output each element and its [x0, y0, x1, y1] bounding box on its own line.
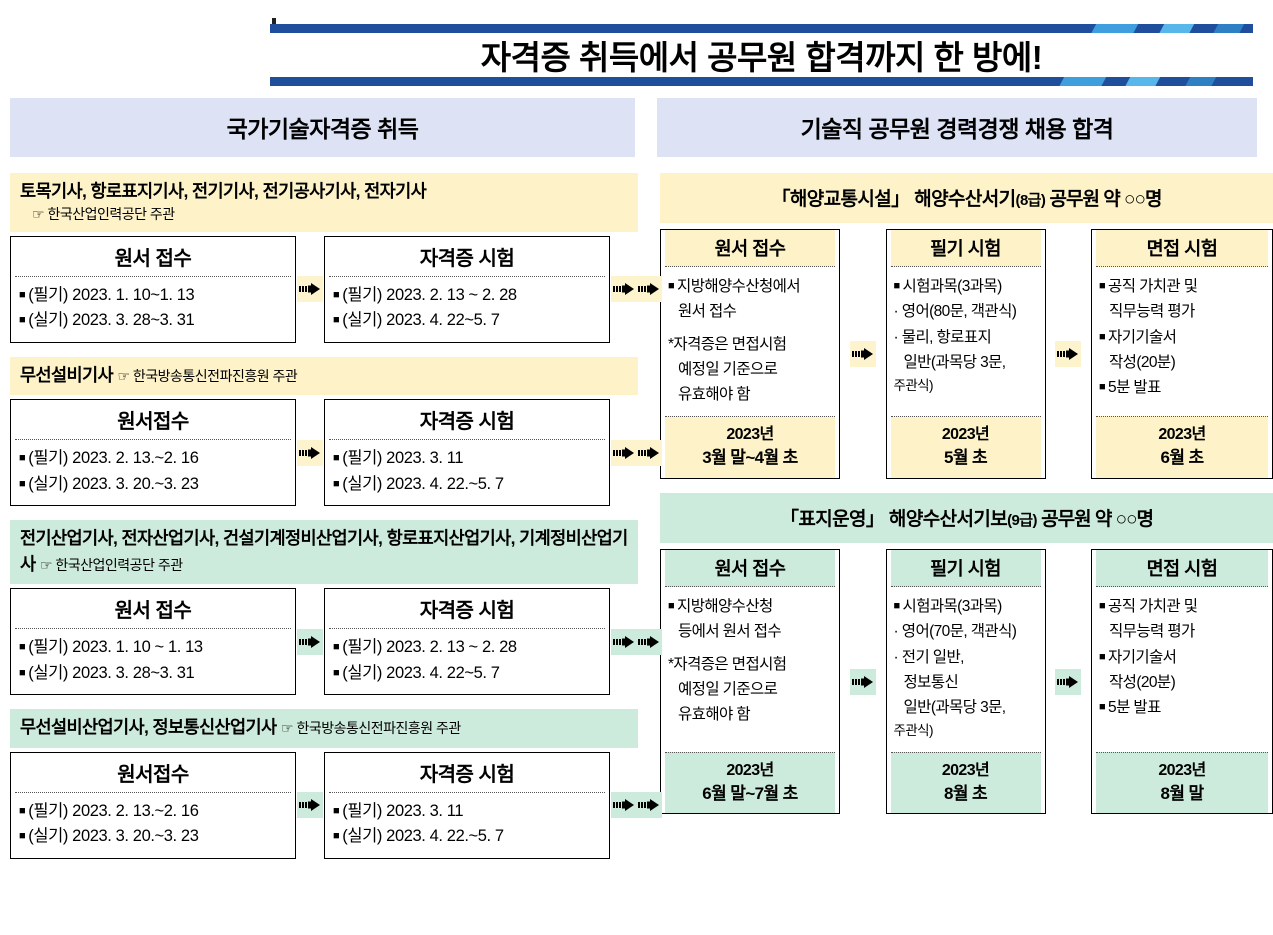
step-box: 원서접수■(필기) 2023. 2. 13.~2. 16■(실기) 2023. …	[10, 752, 296, 859]
schedule-line: ■(필기) 2023. 2. 13.~2. 16	[19, 799, 287, 825]
square-bullet-icon: ■	[19, 314, 25, 326]
hiring-detail-line: ■공직 가치관 및	[1099, 595, 1265, 618]
arrow-right-icon	[1055, 341, 1081, 367]
arrow-right-icon	[297, 276, 323, 302]
schedule-year: 2023년	[891, 759, 1041, 782]
hiring-detail-text: 원서 접수	[678, 303, 736, 320]
schedule-line: ■(실기) 2023. 4. 22.~5. 7	[333, 472, 601, 498]
square-bullet-icon: ■	[333, 289, 339, 301]
square-bullet-icon: ■	[19, 452, 25, 464]
hiring-step-box: 필기 시험■시험과목(3과목)· 영어(80문, 객관식)· 물리, 항로표지일…	[886, 229, 1046, 479]
schedule-text: (실기) 2023. 4. 22~5. 7	[342, 311, 499, 329]
organizer-label: 한국방송통신전파진흥원 주관	[133, 368, 297, 384]
hiring-step-title: 원서 접수	[665, 230, 835, 267]
schedule-line: ■(실기) 2023. 4. 22~5. 7	[333, 308, 601, 334]
step-box-body: ■(필기) 2023. 3. 11■(실기) 2023. 4. 22.~5. 7	[325, 793, 609, 858]
hiring-step-body: ■지방해양수산청등에서 원서 접수*자격증은 면접시험예정일 기준으로유효해야 …	[661, 587, 839, 752]
hiring-panel-band: 「표지운영」 해양수산서기보(9급) 공무원 약 ○○명	[660, 493, 1273, 543]
step-box-title: 원서접수	[15, 400, 291, 440]
square-bullet-icon: ■	[333, 667, 339, 679]
square-bullet-icon: ■	[333, 805, 339, 817]
certificate-column: 토목기사, 항로표지기사, 전기기사, 전기공사기사, 전자기사☞ 한국산업인력…	[10, 173, 638, 873]
hiring-detail-line: · 영어(80문, 객관식)	[894, 300, 1038, 323]
hiring-panel: 「표지운영」 해양수산서기보(9급) 공무원 약 ○○명원서 접수■지방해양수산…	[660, 493, 1273, 814]
certificate-band: 토목기사, 항로표지기사, 전기기사, 전기공사기사, 전자기사☞ 한국산업인력…	[10, 173, 638, 232]
certificate-step-flow: 원서 접수■(필기) 2023. 1. 10 ~ 1. 13■(실기) 2023…	[10, 588, 638, 695]
square-bullet-icon: ■	[894, 600, 900, 612]
pointing-hand-icon: ☞	[117, 368, 132, 384]
hiring-detail-text: 주관식)	[894, 378, 933, 393]
certificate-group: 토목기사, 항로표지기사, 전기기사, 전기공사기사, 전자기사☞ 한국산업인력…	[10, 173, 638, 343]
hiring-detail-line: ■5분 발표	[1099, 696, 1265, 719]
step-box: 자격증 시험■(필기) 2023. 3. 11■(실기) 2023. 4. 22…	[324, 752, 610, 859]
hiring-step-title: 면접 시험	[1096, 230, 1268, 267]
step-box-title: 자격증 시험	[329, 400, 605, 440]
hiring-panel-band: 「해양교통시설」 해양수산서기(8급) 공무원 약 ○○명	[660, 173, 1273, 223]
square-bullet-icon: ■	[1099, 651, 1105, 663]
arrow-right-icon	[611, 440, 637, 466]
hiring-detail-line: *자격증은 면접시험	[668, 333, 832, 356]
schedule-text: (실기) 2023. 3. 28~3. 31	[28, 664, 194, 682]
title-rule-bottom	[270, 77, 1253, 86]
bridge-arrow	[636, 276, 662, 302]
organizer-label: 한국산업인력공단 주관	[55, 557, 182, 573]
certificate-group: 전기산업기사, 전자산업기사, 건설기계정비산업기사, 항로표지산업기사, 기계…	[10, 520, 638, 695]
step-box-title: 자격증 시험	[329, 753, 605, 793]
certificate-names: 무선설비산업기사, 정보통신산업기사	[20, 717, 277, 737]
arrow-right-icon	[636, 276, 662, 302]
square-bullet-icon: ■	[333, 452, 339, 464]
pointing-hand-icon: ☞	[40, 557, 55, 573]
hiring-detail-text: 5분 발표	[1108, 379, 1161, 396]
title-banner: 자격증 취득에서 공무원 합격까지 한 방에!	[20, 18, 1253, 90]
schedule-period: 5월 초	[891, 446, 1041, 471]
schedule-line: ■(필기) 2023. 3. 11	[333, 799, 601, 825]
schedule-text: (실기) 2023. 3. 20.~3. 23	[28, 827, 198, 845]
schedule-period: 8월 초	[891, 782, 1041, 807]
hiring-detail-line: *자격증은 면접시험	[668, 653, 832, 676]
arrow-right-icon	[850, 341, 876, 367]
hiring-detail-line: 유효해야 함	[668, 383, 832, 406]
square-bullet-icon: ■	[1099, 701, 1105, 713]
schedule-period: 6월 말~7월 초	[665, 782, 835, 807]
right-column-header: 기술직 공무원 경력경쟁 채용 합격	[657, 98, 1257, 157]
bridge-arrow	[636, 629, 662, 655]
step-box-body: ■(필기) 2023. 2. 13.~2. 16■(실기) 2023. 3. 2…	[11, 793, 295, 858]
certificate-organizer: ☞ 한국방송통신전파진흥원 주관	[117, 368, 297, 384]
hiring-step-body: ■공직 가치관 및직무능력 평가■자기기술서작성(20분)■5분 발표	[1092, 267, 1272, 416]
hiring-detail-line: 직무능력 평가	[1099, 620, 1265, 643]
arrow-right-icon	[297, 629, 323, 655]
hiring-detail-line: ■공직 가치관 및	[1099, 275, 1265, 298]
position-title: 「해양교통시설」 해양수산서기	[772, 189, 1016, 210]
step-box: 원서접수■(필기) 2023. 2. 13.~2. 16■(실기) 2023. …	[10, 399, 296, 506]
schedule-text: (필기) 2023. 2. 13 ~ 2. 28	[342, 286, 516, 304]
dot-bullet-icon: ·	[894, 623, 902, 640]
hiring-step-body: ■시험과목(3과목)· 영어(70문, 객관식)· 전기 일반,정보통신일반(과…	[887, 587, 1045, 752]
hiring-detail-line: ■지방해양수산청에서	[668, 275, 832, 298]
hiring-detail-text: 지방해양수산청	[677, 598, 773, 615]
hiring-detail-text: 예정일 기준으로	[678, 681, 777, 698]
schedule-year: 2023년	[1096, 423, 1268, 446]
certificate-names: 토목기사, 항로표지기사, 전기기사, 전기공사기사, 전자기사	[20, 181, 426, 201]
arrow-right-icon	[297, 792, 323, 818]
flow-board: 국가기술자격증 취득 기술직 공무원 경력경쟁 채용 합격 토목기사, 항로표지…	[0, 98, 1273, 873]
left-column-header: 국가기술자격증 취득	[10, 98, 635, 157]
hiring-detail-text: 영어(80문, 객관식)	[902, 303, 1017, 320]
schedule-text: (실기) 2023. 4. 22.~5. 7	[342, 475, 503, 493]
arrow-cell	[296, 752, 324, 859]
hiring-detail-text: 자기기술서	[1108, 649, 1176, 666]
step-box-body: ■(필기) 2023. 3. 11■(실기) 2023. 4. 22.~5. 7	[325, 440, 609, 505]
organizer-label: 한국산업인력공단 주관	[47, 206, 174, 222]
hiring-detail-text: 일반(과목당 3문,	[904, 699, 1006, 716]
certificate-band: 전기산업기사, 전자산업기사, 건설기계정비산업기사, 항로표지산업기사, 기계…	[10, 520, 638, 584]
step-box: 자격증 시험■(필기) 2023. 3. 11■(실기) 2023. 4. 22…	[324, 399, 610, 506]
hiring-step-box: 원서 접수■지방해양수산청에서원서 접수*자격증은 면접시험예정일 기준으로유효…	[660, 229, 840, 479]
schedule-text: (실기) 2023. 3. 20.~3. 23	[28, 475, 198, 493]
hiring-detail-text: 전기 일반,	[902, 649, 964, 666]
arrow-right-icon	[636, 792, 662, 818]
square-bullet-icon: ■	[19, 478, 25, 490]
position-count: 공무원 약 ○○명	[1037, 509, 1153, 530]
square-bullet-icon: ■	[894, 280, 900, 292]
schedule-text: (필기) 2023. 2. 13 ~ 2. 28	[342, 638, 516, 656]
hiring-step-title: 필기 시험	[891, 230, 1041, 267]
hiring-detail-line: · 물리, 항로표지	[894, 326, 1038, 349]
hiring-detail-line: 유효해야 함	[668, 703, 832, 726]
square-bullet-icon: ■	[1099, 381, 1105, 393]
certificate-group: 무선설비산업기사, 정보통신산업기사 ☞ 한국방송통신전파진흥원 주관원서접수■…	[10, 709, 638, 859]
dot-bullet-icon: ·	[894, 303, 902, 320]
schedule-text: (필기) 2023. 2. 13.~2. 16	[28, 449, 198, 467]
hiring-detail-text: 공직 가치관 및	[1108, 598, 1197, 615]
arrow-right-icon	[1055, 669, 1081, 695]
certificate-step-flow: 원서접수■(필기) 2023. 2. 13.~2. 16■(실기) 2023. …	[10, 399, 638, 506]
step-box: 원서 접수■(필기) 2023. 1. 10~1. 13■(실기) 2023. …	[10, 236, 296, 343]
certificate-step-flow: 원서 접수■(필기) 2023. 1. 10~1. 13■(실기) 2023. …	[10, 236, 638, 343]
hiring-detail-line: 일반(과목당 3문,	[894, 351, 1038, 374]
dot-bullet-icon: ·	[894, 649, 902, 666]
hiring-step-body: ■시험과목(3과목)· 영어(80문, 객관식)· 물리, 항로표지일반(과목당…	[887, 267, 1045, 416]
schedule-line: ■(필기) 2023. 2. 13 ~ 2. 28	[333, 283, 601, 309]
hiring-detail-line: 원서 접수	[668, 300, 832, 323]
hiring-detail-text: 물리, 항로표지	[902, 329, 991, 346]
arrow-cell	[610, 399, 638, 506]
schedule-text: (실기) 2023. 3. 28~3. 31	[28, 311, 194, 329]
schedule-line: ■(실기) 2023. 4. 22~5. 7	[333, 661, 601, 687]
arrow-cell	[1046, 229, 1092, 479]
square-bullet-icon: ■	[19, 641, 25, 653]
columns-wrapper: 토목기사, 항로표지기사, 전기기사, 전기공사기사, 전자기사☞ 한국산업인력…	[8, 173, 1265, 873]
arrow-right-icon	[636, 440, 662, 466]
hiring-step-schedule: 2023년3월 말~4월 초	[665, 416, 835, 478]
step-box: 원서 접수■(필기) 2023. 1. 10 ~ 1. 13■(실기) 2023…	[10, 588, 296, 695]
civil-service-column: 「해양교통시설」 해양수산서기(8급) 공무원 약 ○○명원서 접수■지방해양수…	[660, 173, 1273, 873]
hiring-detail-text: 시험과목(3과목)	[903, 598, 1002, 615]
step-box-body: ■(필기) 2023. 2. 13.~2. 16■(실기) 2023. 3. 2…	[11, 440, 295, 505]
schedule-year: 2023년	[665, 759, 835, 782]
hiring-step-box: 면접 시험■공직 가치관 및직무능력 평가■자기기술서작성(20분)■5분 발표…	[1091, 549, 1273, 814]
hiring-detail-line: 주관식)	[894, 721, 1038, 741]
arrow-cell	[610, 236, 638, 343]
hiring-detail-text: 영어(70문, 객관식)	[902, 623, 1017, 640]
schedule-text: (필기) 2023. 3. 11	[342, 802, 463, 820]
position-title: 「표지운영」 해양수산서기보	[780, 509, 1007, 530]
certificate-names: 무선설비기사	[20, 365, 113, 385]
hiring-detail-line: ■시험과목(3과목)	[894, 275, 1038, 298]
dot-bullet-icon: ·	[894, 329, 902, 346]
hiring-step-title: 면접 시험	[1096, 550, 1268, 587]
arrow-right-icon	[611, 629, 637, 655]
square-bullet-icon: ■	[333, 314, 339, 326]
square-bullet-icon: ■	[333, 830, 339, 842]
step-box-title: 원서접수	[15, 753, 291, 793]
arrow-right-icon	[611, 792, 637, 818]
hiring-detail-text: 유효해야 함	[678, 706, 750, 723]
organizer-label: 한국방송통신전파진흥원 주관	[296, 720, 460, 736]
hiring-detail-line: 작성(20분)	[1099, 671, 1265, 694]
hiring-detail-text: 시험과목(3과목)	[903, 278, 1002, 295]
hiring-detail-line: 작성(20분)	[1099, 351, 1265, 374]
square-bullet-icon: ■	[1099, 600, 1105, 612]
hiring-detail-text: 공직 가치관 및	[1108, 278, 1197, 295]
hiring-detail-text: 작성(20분)	[1109, 674, 1175, 691]
schedule-line: ■(필기) 2023. 1. 10 ~ 1. 13	[19, 635, 287, 661]
schedule-period: 8월 말	[1096, 782, 1268, 807]
hiring-detail-text: 자기기술서	[1108, 329, 1176, 346]
hiring-step-schedule: 2023년6월 말~7월 초	[665, 752, 835, 814]
hiring-step-flow: 원서 접수■지방해양수산청등에서 원서 접수*자격증은 면접시험예정일 기준으로…	[660, 549, 1273, 814]
hiring-detail-line: ■자기기술서	[1099, 646, 1265, 669]
arrow-cell	[610, 752, 638, 859]
hiring-step-schedule: 2023년5월 초	[891, 416, 1041, 478]
square-bullet-icon: ■	[1099, 331, 1105, 343]
hiring-detail-line: ■자기기술서	[1099, 326, 1265, 349]
position-count: 공무원 약 ○○명	[1045, 189, 1161, 210]
hiring-step-title: 원서 접수	[665, 550, 835, 587]
hiring-detail-text: *자격증은 면접시험	[668, 336, 786, 353]
square-bullet-icon: ■	[1099, 280, 1105, 292]
hiring-detail-line: ■지방해양수산청	[668, 595, 832, 618]
schedule-line: ■(실기) 2023. 4. 22.~5. 7	[333, 824, 601, 850]
schedule-line: ■(실기) 2023. 3. 28~3. 31	[19, 661, 287, 687]
hiring-detail-text: 직무능력 평가	[1109, 303, 1195, 320]
arrow-cell	[610, 588, 638, 695]
hiring-detail-line: 직무능력 평가	[1099, 300, 1265, 323]
step-box-body: ■(필기) 2023. 1. 10~1. 13■(실기) 2023. 3. 28…	[11, 277, 295, 342]
square-bullet-icon: ■	[333, 641, 339, 653]
hiring-step-schedule: 2023년6월 초	[1096, 416, 1268, 478]
certificate-band: 무선설비산업기사, 정보통신산업기사 ☞ 한국방송통신전파진흥원 주관	[10, 709, 638, 747]
schedule-text: (필기) 2023. 3. 11	[342, 449, 463, 467]
square-bullet-icon: ■	[668, 280, 674, 292]
hiring-detail-text: 일반(과목당 3문,	[904, 354, 1006, 371]
hiring-detail-text: 정보통신	[904, 674, 959, 691]
square-bullet-icon: ■	[19, 667, 25, 679]
hiring-detail-text: 주관식)	[894, 723, 933, 738]
schedule-line: ■(필기) 2023. 2. 13.~2. 16	[19, 446, 287, 472]
hiring-step-schedule: 2023년8월 초	[891, 752, 1041, 814]
hiring-step-title: 필기 시험	[891, 550, 1041, 587]
arrow-right-icon	[636, 629, 662, 655]
hiring-detail-text: 직무능력 평가	[1109, 623, 1195, 640]
arrow-right-icon	[611, 276, 637, 302]
pointing-hand-icon: ☞	[32, 206, 47, 222]
hiring-detail-line: 등에서 원서 접수	[668, 620, 832, 643]
certificate-step-flow: 원서접수■(필기) 2023. 2. 13.~2. 16■(실기) 2023. …	[10, 752, 638, 859]
arrow-right-icon	[850, 669, 876, 695]
arrow-cell	[296, 588, 324, 695]
schedule-year: 2023년	[665, 423, 835, 446]
hiring-step-schedule: 2023년8월 말	[1096, 752, 1268, 814]
hiring-detail-text: 5분 발표	[1108, 699, 1161, 716]
hiring-detail-text: 예정일 기준으로	[678, 361, 777, 378]
hiring-detail-text: 지방해양수산청에서	[677, 278, 800, 295]
hiring-detail-text: 유효해야 함	[678, 386, 750, 403]
schedule-period: 3월 말~4월 초	[665, 446, 835, 471]
step-box-body: ■(필기) 2023. 2. 13 ~ 2. 28■(실기) 2023. 4. …	[325, 277, 609, 342]
bridge-arrow	[636, 440, 662, 466]
certificate-organizer: ☞ 한국산업인력공단 주관	[40, 557, 183, 573]
arrow-cell	[840, 549, 886, 814]
schedule-text: (필기) 2023. 1. 10 ~ 1. 13	[28, 638, 202, 656]
square-bullet-icon: ■	[19, 289, 25, 301]
schedule-line: ■(필기) 2023. 2. 13 ~ 2. 28	[333, 635, 601, 661]
square-bullet-icon: ■	[668, 600, 674, 612]
step-box-title: 자격증 시험	[329, 237, 605, 277]
schedule-line: ■(실기) 2023. 3. 28~3. 31	[19, 308, 287, 334]
schedule-text: (필기) 2023. 1. 10~1. 13	[28, 286, 194, 304]
schedule-text: (필기) 2023. 2. 13.~2. 16	[28, 802, 198, 820]
schedule-year: 2023년	[1096, 759, 1268, 782]
hiring-step-body: ■지방해양수산청에서원서 접수*자격증은 면접시험예정일 기준으로유효해야 함	[661, 267, 839, 416]
hiring-detail-text: 등에서 원서 접수	[678, 623, 781, 640]
certificate-organizer: ☞ 한국방송통신전파진흥원 주관	[281, 720, 461, 736]
step-box-body: ■(필기) 2023. 1. 10 ~ 1. 13■(실기) 2023. 3. …	[11, 629, 295, 694]
hiring-detail-line: · 전기 일반,	[894, 646, 1038, 669]
hiring-detail-line: ■5분 발표	[1099, 376, 1265, 399]
position-grade: (9급)	[1007, 512, 1037, 529]
step-box-body: ■(필기) 2023. 2. 13 ~ 2. 28■(실기) 2023. 4. …	[325, 629, 609, 694]
square-bullet-icon: ■	[19, 805, 25, 817]
step-box-title: 자격증 시험	[329, 589, 605, 629]
step-box-title: 원서 접수	[15, 237, 291, 277]
square-bullet-icon: ■	[19, 830, 25, 842]
schedule-year: 2023년	[891, 423, 1041, 446]
arrow-cell	[296, 236, 324, 343]
hiring-detail-line: 정보통신	[894, 671, 1038, 694]
certificate-band: 무선설비기사 ☞ 한국방송통신전파진흥원 주관	[10, 357, 638, 395]
hiring-detail-line: 주관식)	[894, 376, 1038, 396]
hiring-detail-text: 작성(20분)	[1109, 354, 1175, 371]
arrow-cell	[296, 399, 324, 506]
square-bullet-icon: ■	[333, 478, 339, 490]
schedule-line: ■(실기) 2023. 3. 20.~3. 23	[19, 472, 287, 498]
schedule-line: ■(필기) 2023. 1. 10~1. 13	[19, 283, 287, 309]
schedule-text: (실기) 2023. 4. 22~5. 7	[342, 664, 499, 682]
certificate-organizer: ☞ 한국산업인력공단 주관	[32, 204, 628, 224]
bridge-arrow-column	[638, 173, 660, 873]
hiring-detail-line: 예정일 기준으로	[668, 358, 832, 381]
hiring-detail-line: 예정일 기준으로	[668, 678, 832, 701]
schedule-line: ■(실기) 2023. 3. 20.~3. 23	[19, 824, 287, 850]
hiring-detail-line: 일반(과목당 3문,	[894, 696, 1038, 719]
hiring-detail-line: · 영어(70문, 객관식)	[894, 620, 1038, 643]
schedule-period: 6월 초	[1096, 446, 1268, 471]
pointing-hand-icon: ☞	[281, 720, 296, 736]
step-box: 자격증 시험■(필기) 2023. 2. 13 ~ 2. 28■(실기) 202…	[324, 588, 610, 695]
hiring-step-box: 면접 시험■공직 가치관 및직무능력 평가■자기기술서작성(20분)■5분 발표…	[1091, 229, 1273, 479]
hiring-step-box: 원서 접수■지방해양수산청등에서 원서 접수*자격증은 면접시험예정일 기준으로…	[660, 549, 840, 814]
hiring-detail-line: ■시험과목(3과목)	[894, 595, 1038, 618]
bridge-arrow	[636, 792, 662, 818]
hiring-step-box: 필기 시험■시험과목(3과목)· 영어(70문, 객관식)· 전기 일반,정보통…	[886, 549, 1046, 814]
hiring-step-body: ■공직 가치관 및직무능력 평가■자기기술서작성(20분)■5분 발표	[1092, 587, 1272, 752]
step-box-title: 원서 접수	[15, 589, 291, 629]
step-box: 자격증 시험■(필기) 2023. 2. 13 ~ 2. 28■(실기) 202…	[324, 236, 610, 343]
hiring-panel: 「해양교통시설」 해양수산서기(8급) 공무원 약 ○○명원서 접수■지방해양수…	[660, 173, 1273, 479]
arrow-cell	[1046, 549, 1092, 814]
hiring-step-flow: 원서 접수■지방해양수산청에서원서 접수*자격증은 면접시험예정일 기준으로유효…	[660, 229, 1273, 479]
certificate-group: 무선설비기사 ☞ 한국방송통신전파진흥원 주관원서접수■(필기) 2023. 2…	[10, 357, 638, 507]
arrow-right-icon	[297, 440, 323, 466]
arrow-cell	[840, 229, 886, 479]
column-headers: 국가기술자격증 취득 기술직 공무원 경력경쟁 채용 합격	[8, 98, 1265, 157]
position-grade: (8급)	[1016, 192, 1046, 209]
schedule-text: (실기) 2023. 4. 22.~5. 7	[342, 827, 503, 845]
hiring-detail-text: *자격증은 면접시험	[668, 656, 786, 673]
schedule-line: ■(필기) 2023. 3. 11	[333, 446, 601, 472]
